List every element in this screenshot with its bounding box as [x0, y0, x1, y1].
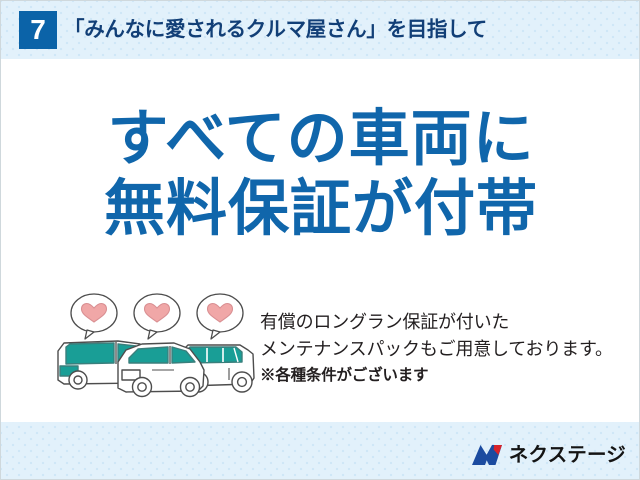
brand-name-label: ネクステージ	[509, 444, 626, 466]
section-number-badge: 7	[19, 11, 57, 49]
headline-block: すべての車両に 無料保証が付帯	[1, 103, 640, 243]
body-copy-line-2: メンテナンスパックもご用意しております。	[260, 336, 635, 363]
body-copy-line-1: 有償のロングラン保証が付いた	[260, 309, 635, 336]
body-copy-block: 有償のロングラン保証が付いた メンテナンスパックもご用意しております。 ※各種条…	[260, 309, 635, 389]
slide-footer: ネクステージ	[1, 422, 640, 480]
slide-header: 7 「みんなに愛されるクルマ屋さん」を目指して	[1, 1, 640, 59]
body-copy-note: ※各種条件がございます	[260, 363, 635, 389]
page-title: 「みんなに愛されるクルマ屋さん」を目指して	[64, 13, 487, 47]
three-cars-illustration	[56, 292, 261, 404]
slide-canvas: 7 「みんなに愛されるクルマ屋さん」を目指して すべての車両に 無料保証が付帯	[0, 0, 640, 480]
content-panel: すべての車両に 無料保証が付帯	[1, 59, 640, 422]
heart-bubble-group-2	[134, 294, 180, 339]
car-minivan	[118, 343, 204, 397]
heart-bubble-group-1	[71, 294, 117, 339]
cars-hearts-svg	[56, 292, 261, 404]
headline-line-1: すべての車両に	[1, 103, 640, 173]
headline-line-2: 無料保証が付帯	[1, 173, 640, 243]
heart-bubble-group-3	[197, 294, 243, 339]
brand-lockup: ネクステージ	[471, 442, 626, 468]
nextage-n-logo-icon	[471, 444, 503, 466]
